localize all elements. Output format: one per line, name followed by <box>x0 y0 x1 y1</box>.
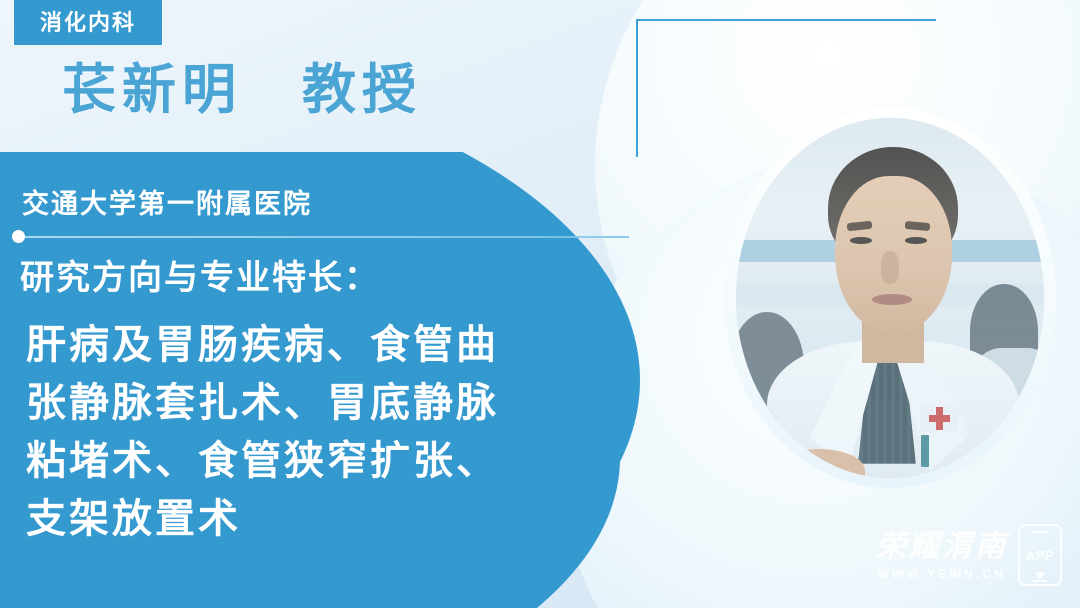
divider-dot <box>12 230 25 243</box>
logo-text-group: 荣耀渭南 WWW.YEWN.CN <box>876 530 1008 581</box>
doctor-name-title: 苌新明 教授 <box>62 62 422 119</box>
department-badge: 消化内科 <box>14 0 162 45</box>
specialties-text: 肝病及胃肠疾病、食管曲 张静脉套扎术、胃底静脉 粘堵术、食管狭窄扩张、 支架放置… <box>26 316 626 548</box>
section-heading: 研究方向与专业特长： <box>20 250 380 299</box>
specialties-line: 粘堵术、食管狭窄扩张、 <box>26 432 626 490</box>
specialties-line: 肝病及胃肠疾病、食管曲 <box>26 316 626 374</box>
doctor-portrait <box>736 118 1044 478</box>
logo-app-label: APP <box>1026 548 1054 563</box>
doctor-profile-card: 消化内科 苌新明 教授 交通大学第一附属医院 研究方向与专业特长： 肝病及胃肠疾… <box>0 0 1080 608</box>
department-badge-label: 消化内科 <box>40 12 136 34</box>
specialties-line: 支架放置术 <box>26 490 626 548</box>
phone-app-download-icon: APP <box>1018 524 1062 586</box>
hospital-name: 交通大学第一附属医院 <box>22 182 312 221</box>
specialties-line: 张静脉套扎术、胃底静脉 <box>26 374 626 432</box>
portrait-color-tint <box>736 118 1044 478</box>
divider-line <box>14 236 629 238</box>
watermark-logo: 荣耀渭南 WWW.YEWN.CN APP <box>876 524 1062 586</box>
logo-url: WWW.YEWN.CN <box>878 567 1007 581</box>
download-arrow-icon <box>1035 572 1045 579</box>
download-bar-icon <box>1033 580 1047 582</box>
logo-title: 荣耀渭南 <box>876 530 1008 563</box>
